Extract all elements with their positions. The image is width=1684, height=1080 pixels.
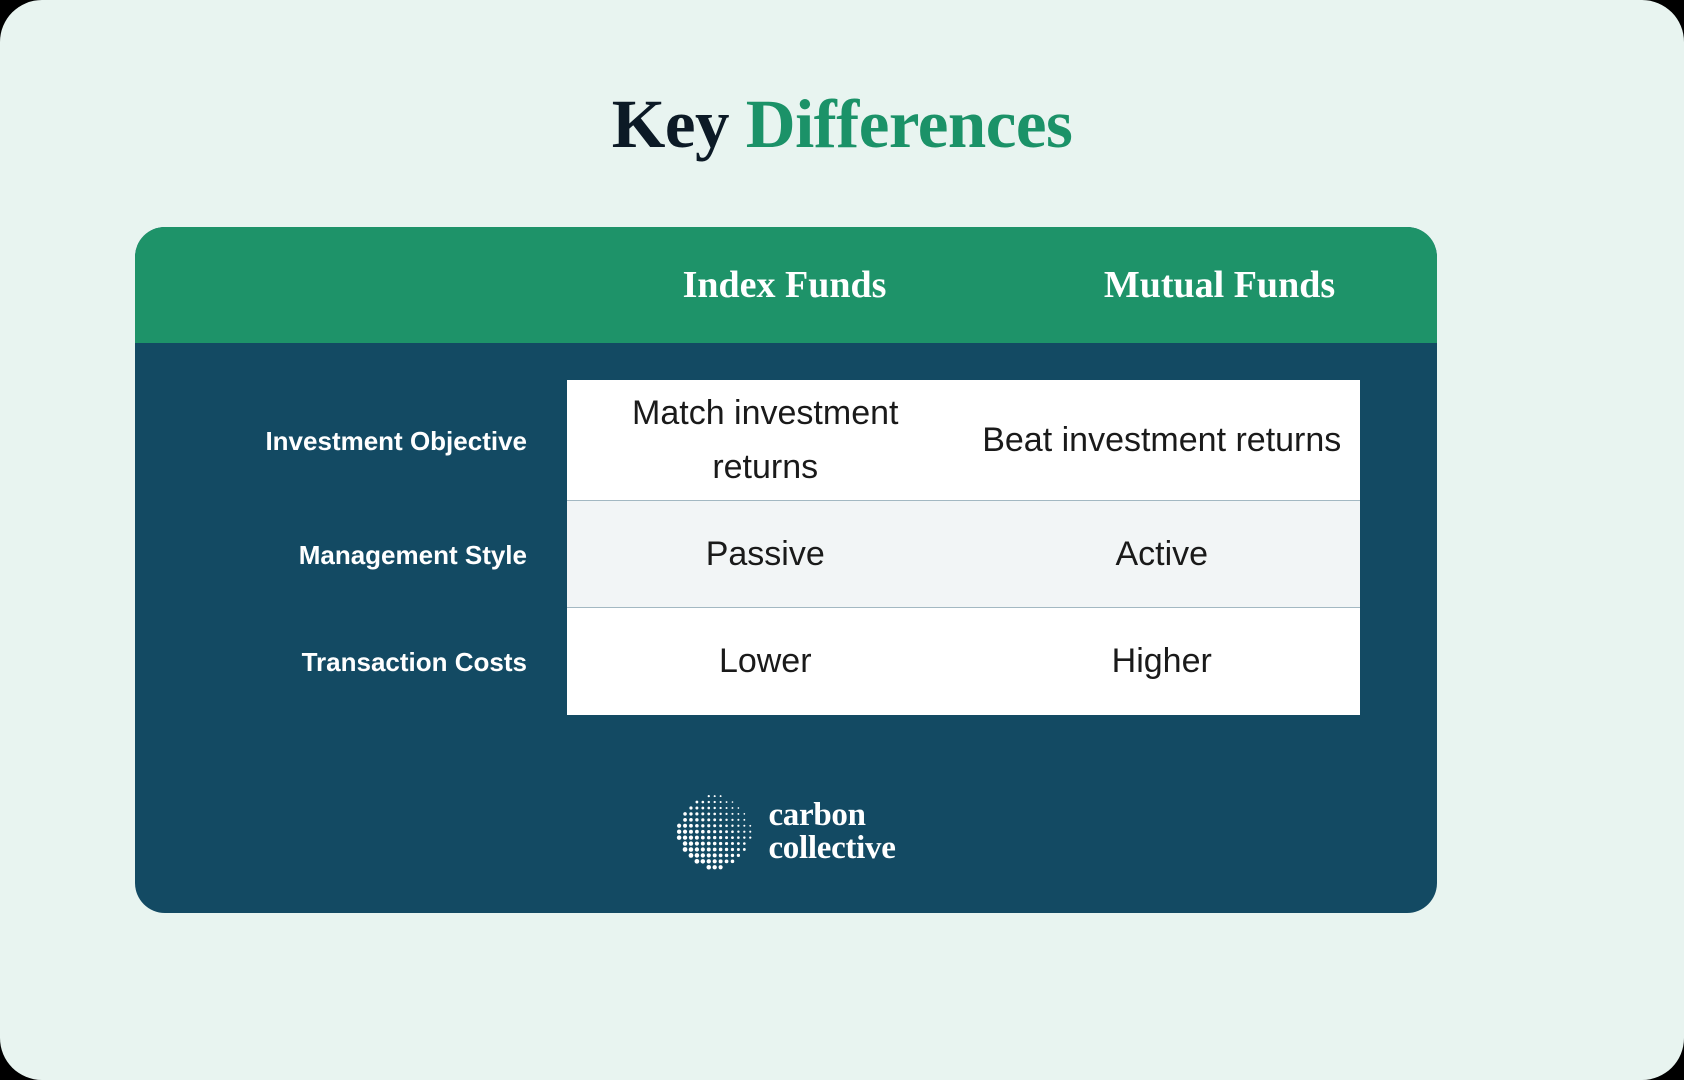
cell-investment-objective-index-funds: Match investment returns	[567, 386, 964, 495]
table-row: Lower Higher	[567, 608, 1360, 715]
brand-wordmark-line2: collective	[768, 832, 895, 865]
page-title: Key Differences	[0, 78, 1684, 170]
row-label-transaction-costs: Transaction Costs	[135, 608, 567, 715]
row-label-column: Investment Objective Management Style Tr…	[135, 380, 567, 715]
brand-logo: carbon collective	[135, 793, 1437, 871]
table-row: Match investment returns Beat investment…	[567, 380, 1360, 501]
comparison-data-table: Match investment returns Beat investment…	[567, 380, 1360, 715]
cell-management-style-index-funds: Passive	[567, 527, 964, 581]
cell-investment-objective-mutual-funds: Beat investment returns	[964, 413, 1361, 467]
page-title-word-accent: Differences	[746, 86, 1073, 162]
column-header-mutual-funds: Mutual Funds	[1002, 262, 1437, 308]
cell-management-style-mutual-funds: Active	[964, 527, 1361, 581]
brand-wordmark-line1: carbon	[768, 799, 895, 832]
row-label-management-style: Management Style	[135, 501, 567, 608]
page-title-word-dark: Key	[612, 86, 729, 162]
brand-wordmark: carbon collective	[768, 799, 895, 865]
row-label-investment-objective: Investment Objective	[135, 380, 567, 501]
comparison-card: Index Funds Mutual Funds Investment Obje…	[135, 227, 1437, 913]
comparison-card-body: Investment Objective Management Style Tr…	[135, 343, 1437, 913]
halftone-dot-circle-icon	[676, 793, 754, 871]
infographic-page: Key Differences Index Funds Mutual Funds…	[0, 0, 1684, 1080]
column-header-index-funds: Index Funds	[567, 262, 1002, 308]
table-row: Passive Active	[567, 501, 1360, 608]
cell-transaction-costs-mutual-funds: Higher	[964, 634, 1361, 688]
table-header-row: Index Funds Mutual Funds	[135, 227, 1437, 343]
cell-transaction-costs-index-funds: Lower	[567, 634, 964, 688]
